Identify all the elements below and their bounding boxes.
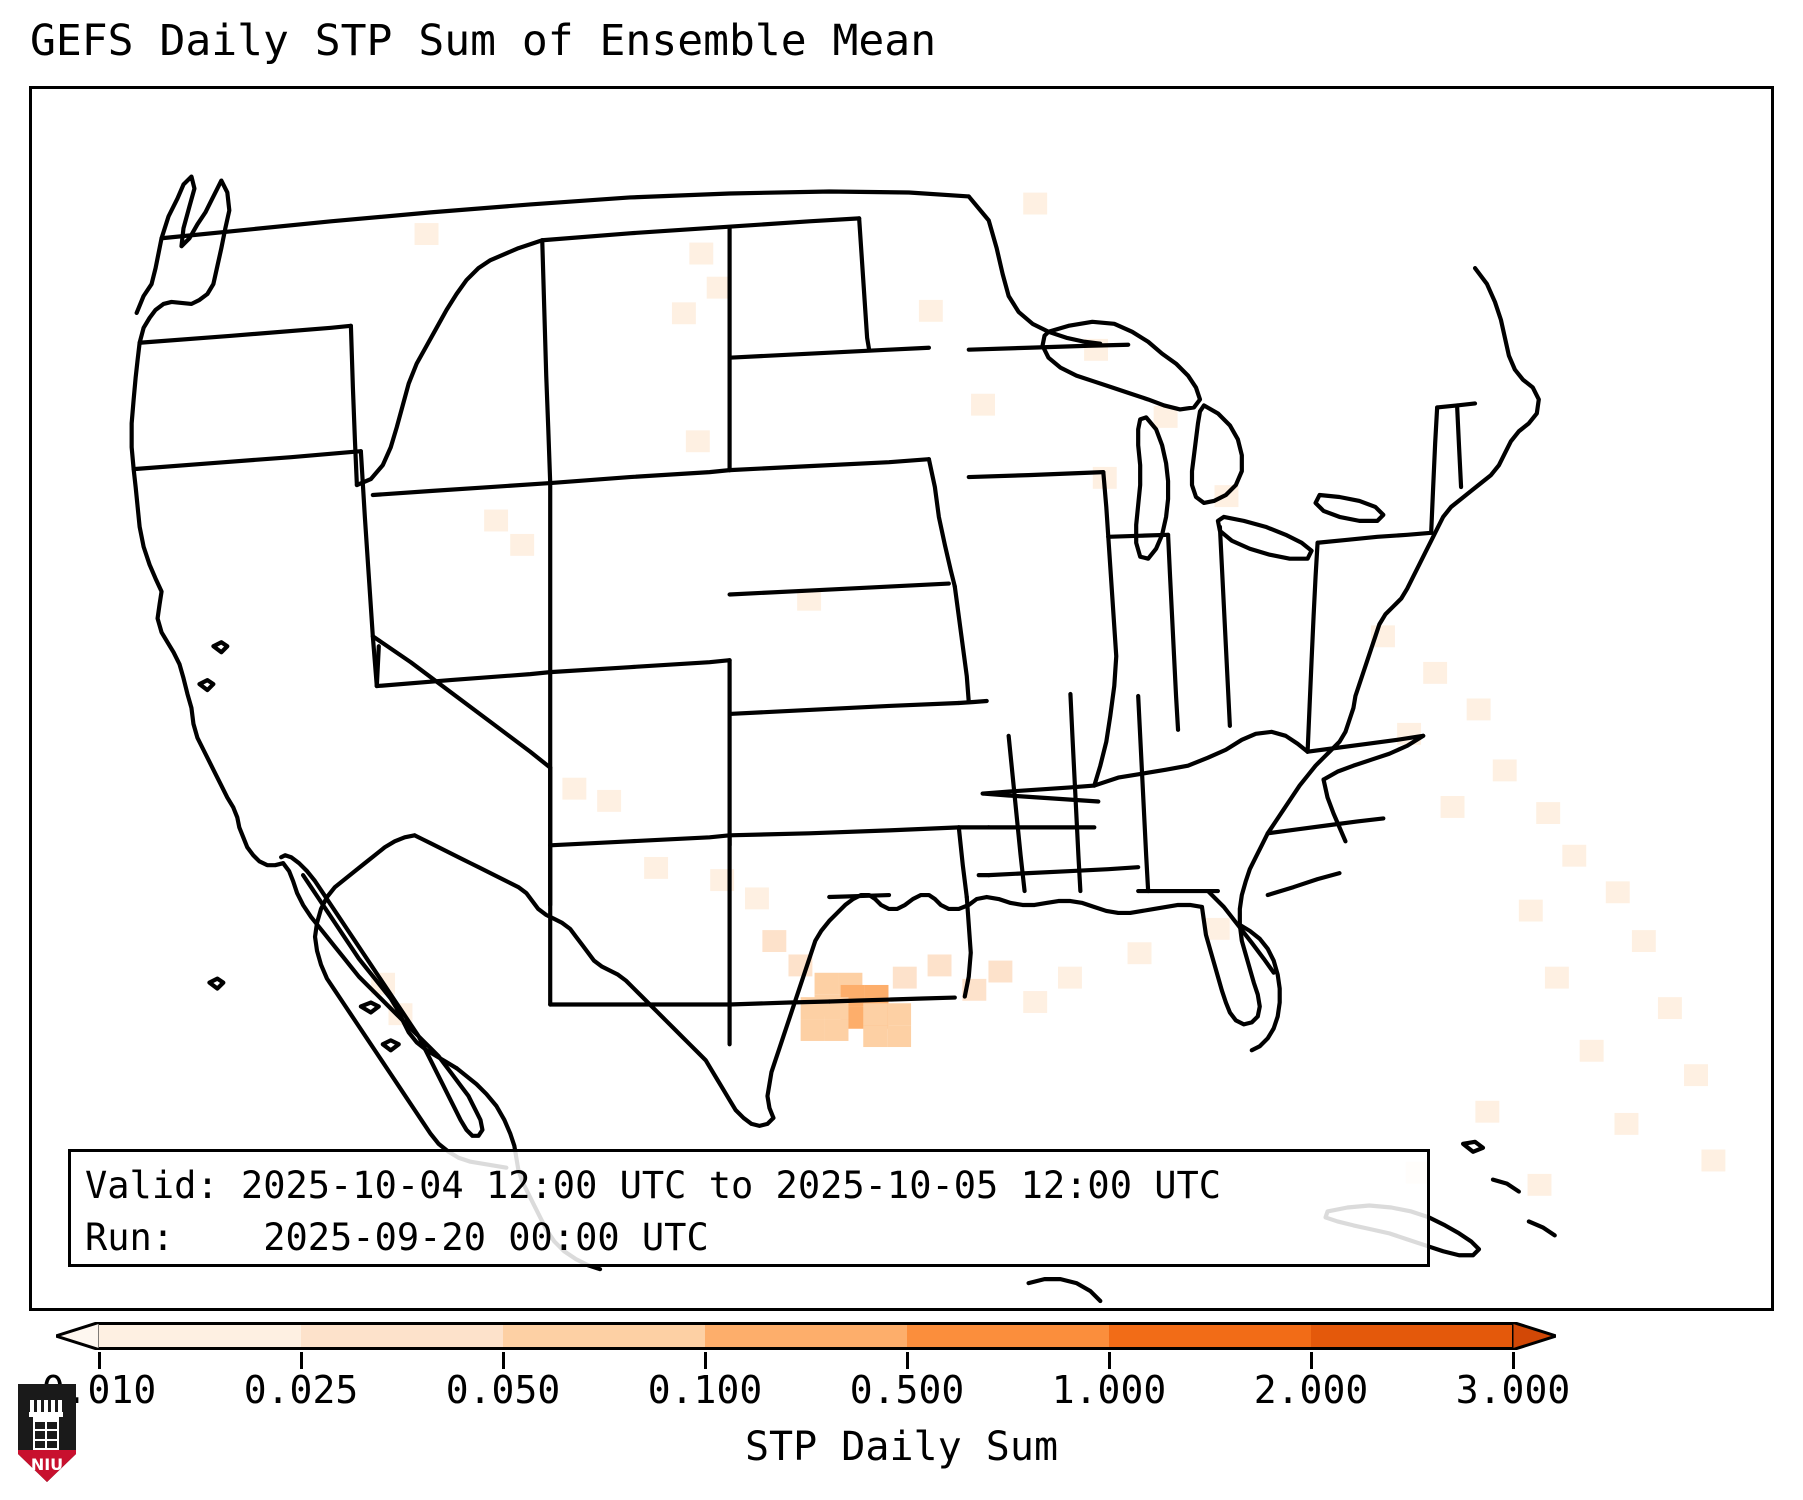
- grid-cell: [644, 857, 668, 879]
- colorbar-tick-label-2: 0.050: [446, 1368, 560, 1412]
- grid-cell: [1536, 802, 1560, 824]
- grid-cell: [1023, 193, 1047, 215]
- grid-cell: [1023, 991, 1047, 1013]
- grid-cell: [1545, 967, 1569, 989]
- colorbar-segment-3: [705, 1325, 907, 1347]
- grid-cell: [686, 430, 710, 452]
- colorbar-tick-3: [704, 1352, 707, 1369]
- colorbar-segment-4: [907, 1325, 1109, 1347]
- grid-cell: [762, 930, 786, 952]
- niu-logo: NIU: [16, 1382, 78, 1484]
- grid-cell: [1632, 930, 1656, 952]
- grid-cell: [971, 394, 995, 416]
- colorbar-tick-label-6: 2.000: [1254, 1368, 1368, 1412]
- colorbar-high-extend-arrow: [1512, 1322, 1556, 1350]
- grid-cell: [801, 1019, 825, 1041]
- grid-cell: [1658, 997, 1682, 1019]
- colorbar-tick-label-7: 3.000: [1456, 1368, 1570, 1412]
- colorbar-tick-label-1: 0.025: [244, 1368, 358, 1412]
- grid-cell: [919, 300, 943, 322]
- colorbar-tick-6: [1310, 1352, 1313, 1369]
- grid-cell: [707, 277, 731, 299]
- grid-cell: [863, 1025, 887, 1047]
- colorbar-tick-1: [300, 1352, 303, 1369]
- grid-cell: [1467, 699, 1491, 721]
- grid-cell: [1606, 881, 1630, 903]
- grid-cell: [745, 887, 769, 909]
- colorbar-tick-2: [502, 1352, 505, 1369]
- grid-cell: [562, 778, 586, 800]
- grid-cell: [1684, 1064, 1708, 1086]
- grid-cell: [1058, 967, 1082, 989]
- colorbar-segment-0: [99, 1325, 301, 1347]
- niu-logo-text: NIU: [31, 1455, 63, 1474]
- grid-cell: [689, 243, 713, 265]
- colorbar-tick-label-3: 0.100: [648, 1368, 762, 1412]
- colorbar-tick-4: [906, 1352, 909, 1369]
- map-background: [32, 89, 1771, 1308]
- grid-cell: [1128, 942, 1152, 964]
- figure-canvas: GEFS Daily STP Sum of Ensemble Mean: [0, 0, 1803, 1500]
- grid-cell: [1562, 845, 1586, 867]
- grid-cell: [893, 967, 917, 989]
- grid-cell: [863, 1003, 887, 1025]
- colorbar-low-extend-arrow: [56, 1322, 100, 1350]
- colorbar[interactable]: [29, 1316, 1774, 1362]
- grid-cell: [887, 1003, 911, 1025]
- colorbar-tick-0: [98, 1352, 101, 1369]
- valid-line: Valid: 2025-10-04 12:00 UTC to 2025-10-0…: [85, 1160, 1413, 1212]
- grid-cell: [1528, 1174, 1552, 1196]
- grid-cell: [1493, 759, 1517, 781]
- page-title: GEFS Daily STP Sum of Ensemble Mean: [30, 16, 936, 66]
- grid-cell: [1441, 796, 1465, 818]
- map-panel: Valid: 2025-10-04 12:00 UTC to 2025-10-0…: [29, 86, 1774, 1311]
- grid-cell: [1580, 1040, 1604, 1062]
- grid-cell: [672, 302, 696, 324]
- grid-cell: [1701, 1150, 1725, 1172]
- grid-cell: [1206, 918, 1230, 940]
- conus-map-svg: [32, 89, 1771, 1308]
- grid-cell: [825, 1019, 849, 1041]
- grid-cell: [510, 534, 534, 556]
- colorbar-tick-5: [1108, 1352, 1111, 1369]
- grid-cell: [815, 973, 839, 995]
- grid-cell: [1423, 662, 1447, 684]
- grid-cell: [928, 954, 952, 976]
- grid-cell: [1614, 1113, 1638, 1135]
- grid-cell: [1475, 1101, 1499, 1123]
- colorbar-segment-1: [301, 1325, 503, 1347]
- colorbar-tick-7: [1512, 1352, 1515, 1369]
- colorbar-segment-2: [503, 1325, 705, 1347]
- grid-cell: [415, 223, 439, 245]
- grid-cell: [988, 961, 1012, 983]
- grid-cell: [1519, 900, 1543, 922]
- grid-cell: [887, 1025, 911, 1047]
- grid-cell: [484, 510, 508, 532]
- colorbar-tick-label-5: 1.000: [1052, 1368, 1166, 1412]
- colorbar-segments: [99, 1322, 1513, 1350]
- grid-cell: [597, 790, 621, 812]
- colorbar-segment-5: [1109, 1325, 1311, 1347]
- colorbar-segment-6: [1311, 1325, 1513, 1347]
- colorbar-axis-label: STP Daily Sum: [0, 1424, 1803, 1470]
- colorbar-tick-label-4: 0.500: [850, 1368, 964, 1412]
- run-line: Run: 2025-09-20 00:00 UTC: [85, 1212, 1413, 1264]
- info-box: Valid: 2025-10-04 12:00 UTC to 2025-10-0…: [68, 1149, 1430, 1267]
